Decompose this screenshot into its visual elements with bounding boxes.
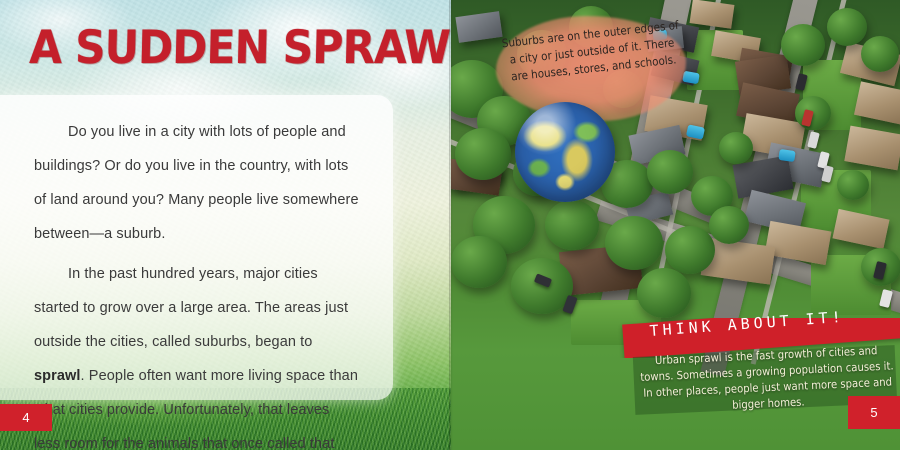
page-number-left: 4 — [0, 404, 52, 431]
tree — [637, 268, 691, 318]
tree — [647, 150, 693, 194]
tree — [719, 132, 753, 164]
paragraph-1: Do you live in a city with lots of peopl… — [0, 95, 393, 251]
tree — [451, 236, 507, 288]
tree — [827, 8, 867, 46]
house — [690, 0, 735, 29]
right-page: Suburbs are on the outer edges of a city… — [451, 0, 900, 450]
house — [455, 11, 502, 43]
body-text-panel: Do you live in a city with lots of peopl… — [0, 95, 393, 400]
paragraph-2-after: . People often want more living space th… — [34, 368, 358, 450]
tree — [709, 206, 749, 244]
paragraph-2-before: In the past hundred years, major cities … — [34, 266, 348, 350]
book-spread: A SUDDEN SPRAWL Do you live in a city wi… — [0, 0, 900, 450]
swimming-pool — [778, 149, 795, 162]
page-title: A SUDDEN SPRAWL — [29, 24, 398, 70]
page-number-right: 5 — [848, 396, 900, 429]
tree — [861, 36, 899, 72]
left-page: A SUDDEN SPRAWL Do you live in a city wi… — [0, 0, 451, 450]
tree — [605, 216, 663, 270]
globe-icon — [515, 102, 615, 202]
tree — [665, 226, 715, 274]
house — [844, 126, 900, 171]
tree — [781, 24, 825, 66]
house — [832, 209, 889, 249]
tree — [545, 200, 599, 250]
tree — [455, 128, 511, 180]
paragraph-2: In the past hundred years, major cities … — [0, 251, 393, 450]
keyword-sprawl: sprawl — [34, 368, 81, 384]
tree — [837, 170, 869, 200]
